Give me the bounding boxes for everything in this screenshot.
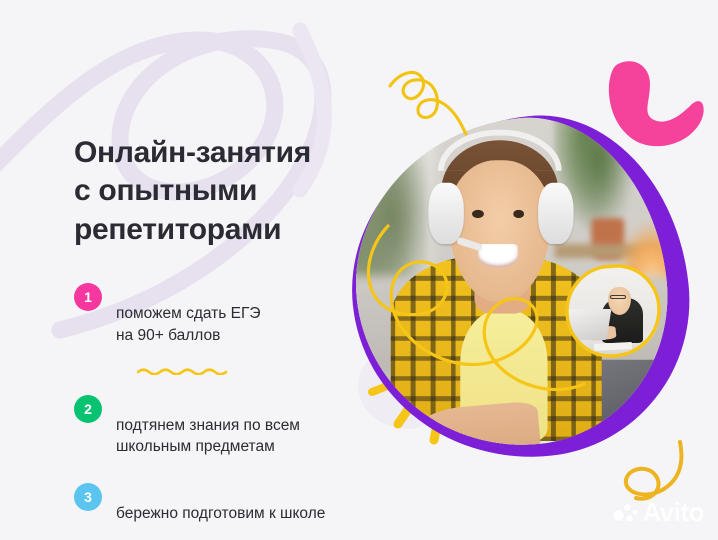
tutor-inset-outline xyxy=(563,263,663,359)
avito-brand-label: Avito xyxy=(642,497,704,528)
bullet-label: бережно подготовим к школе xyxy=(116,505,325,522)
bullet-text-wrap: подтянем знания по всем школьным предмет… xyxy=(116,394,300,458)
wavy-underline-decoration xyxy=(137,367,229,375)
list-item: 1 поможем сдать ЕГЭ на 90+ баллов xyxy=(74,282,394,370)
headline: Онлайн-занятия с опытными репетиторами xyxy=(74,134,374,249)
benefits-list: 1 поможем сдать ЕГЭ на 90+ баллов 2 подт… xyxy=(74,282,394,524)
bullet-label: подтянем знания по всем школьным предмет… xyxy=(116,417,300,455)
bullet-label: поможем сдать ЕГЭ на 90+ баллов xyxy=(116,305,261,343)
tutor-inset-bubble xyxy=(563,263,663,359)
list-item: 2 подтянем знания по всем школьным предм… xyxy=(74,394,394,458)
bullet-number-badge: 2 xyxy=(74,395,102,423)
avito-dots-icon xyxy=(613,502,639,524)
avito-watermark: Avito xyxy=(613,497,704,528)
bullet-number-badge: 3 xyxy=(74,483,102,511)
bullet-text-wrap: поможем сдать ЕГЭ на 90+ баллов xyxy=(116,282,261,370)
bullet-text-wrap: бережно подготовим к школе xyxy=(116,482,325,525)
list-item: 3 бережно подготовим к школе xyxy=(74,482,394,525)
promo-banner: Онлайн-занятия с опытными репетиторами 1… xyxy=(0,0,718,540)
bullet-number-badge: 1 xyxy=(74,283,102,311)
